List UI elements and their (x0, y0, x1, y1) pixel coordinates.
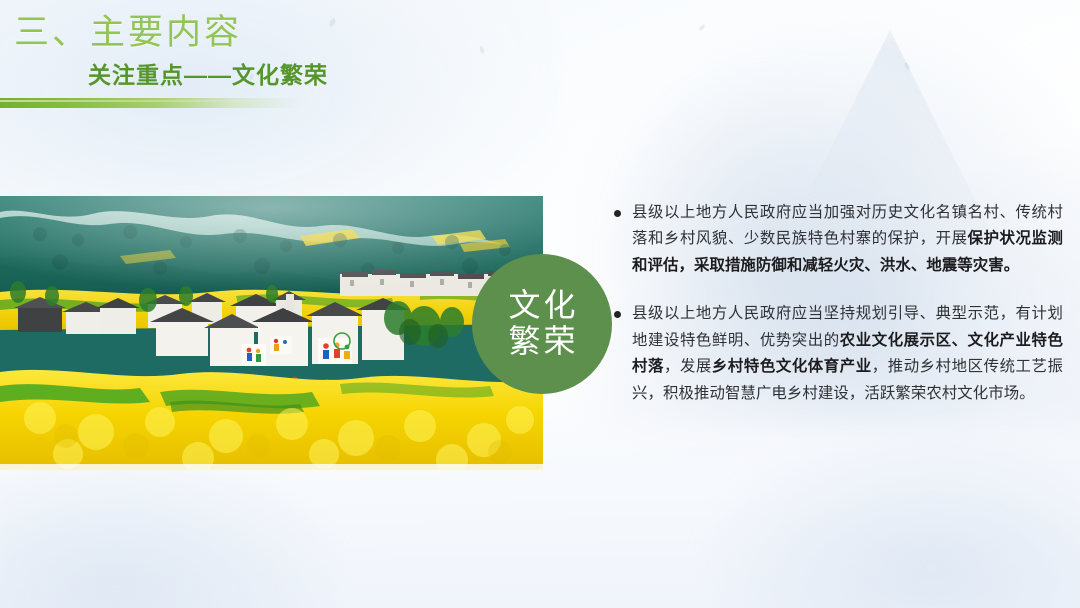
badge-line-1: 文化 (505, 288, 578, 324)
bullet-dot-icon (614, 311, 621, 318)
page-subtitle: 关注重点——文化繁荣 (88, 56, 328, 90)
bullet-item-protection: 县级以上地方人民政府应当加强对历史文化名镇名村、传统村落和乡村风貌、少数民族特色… (613, 200, 1063, 279)
slide-header: 三、主要内容 关注重点——文化繁荣 (0, 0, 1080, 112)
culture-prosperity-badge: 文化 繁荣 (472, 254, 612, 394)
bullet-dot-icon (614, 210, 621, 217)
header-accent-bar-highlight (0, 100, 270, 102)
background-bottom-right-glow (700, 428, 1080, 608)
page-title: 三、主要内容 (14, 4, 242, 55)
content-bullet-list: 县级以上地方人民政府应当加强对历史文化名镇名村、传统村落和乡村风貌、少数民族特色… (613, 200, 1063, 407)
bullet-item-development: 县级以上地方人民政府应当坚持规划引导、典型示范，有计划地建设特色鲜明、优势突出的… (613, 301, 1063, 407)
bullet-text-development: 县级以上地方人民政府应当坚持规划引导、典型示范，有计划地建设特色鲜明、优势突出的… (632, 305, 1063, 401)
emphasis-text: 乡村特色文化体育产业 (712, 358, 872, 375)
bullet-text-protection: 县级以上地方人民政府应当加强对历史文化名镇名村、传统村落和乡村风貌、少数民族特色… (632, 204, 1063, 274)
badge-line-2: 繁荣 (505, 324, 578, 360)
village-landscape-photo (0, 196, 543, 470)
body-text: ，发展 (664, 358, 712, 375)
presentation-slide: 三、主要内容 关注重点——文化繁荣 (0, 0, 1080, 608)
